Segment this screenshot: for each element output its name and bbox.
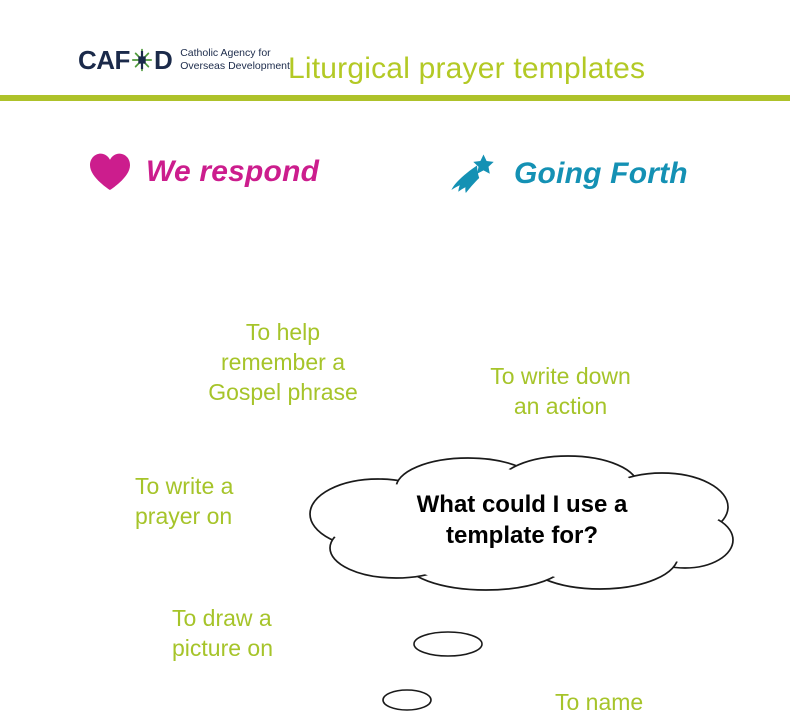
cafod-logo: CAF D Catholic Agency for O: [78, 46, 290, 74]
section-heading-label: We respond: [146, 155, 319, 189]
thought-trail-bubble-large: [414, 632, 482, 656]
slide-header: CAF D Catholic Agency for O: [0, 0, 790, 100]
thought-trail-bubble-small: [383, 690, 431, 710]
thought-bubble: What could I use a template for?: [300, 452, 740, 592]
cafod-cross-icon: [131, 48, 153, 72]
note-gospel-phrase: To help remember a Gospel phrase: [193, 318, 373, 408]
note-to-name: To name: [555, 688, 755, 715]
cafod-wordmark: CAF D: [78, 47, 172, 73]
note-write-action: To write down an action: [473, 362, 648, 422]
slide-canvas: CAF D Catholic Agency for O: [0, 0, 790, 715]
heart-icon: [88, 152, 132, 192]
section-heading-going-forth: Going Forth: [450, 152, 688, 196]
shooting-star-icon: [450, 152, 500, 196]
cafod-tagline: Catholic Agency for Overseas Development: [180, 46, 290, 74]
page-title: Liturgical prayer templates: [288, 52, 645, 86]
note-draw-picture: To draw a picture on: [172, 604, 352, 664]
thought-bubble-text: What could I use a template for?: [362, 489, 682, 551]
cafod-wordmark-right: D: [154, 47, 172, 73]
section-heading-we-respond: We respond: [88, 152, 319, 192]
note-write-prayer: To write a prayer on: [135, 472, 315, 532]
thought-trail: [380, 624, 520, 715]
header-divider: [0, 95, 790, 101]
section-heading-label: Going Forth: [514, 157, 688, 191]
cafod-wordmark-left: CAF: [78, 47, 130, 73]
